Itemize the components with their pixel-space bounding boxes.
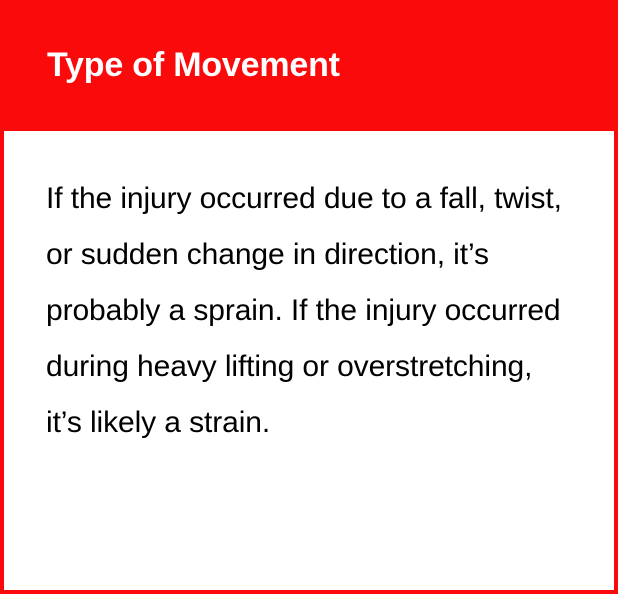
info-card: Type of Movement If the injury occurred …: [0, 0, 618, 594]
card-header: Type of Movement: [0, 0, 618, 131]
card-title: Type of Movement: [47, 46, 340, 85]
card-body-paragraph: If the injury occurred due to a fall, tw…: [46, 171, 574, 451]
card-body: If the injury occurred due to a fall, tw…: [4, 131, 614, 451]
